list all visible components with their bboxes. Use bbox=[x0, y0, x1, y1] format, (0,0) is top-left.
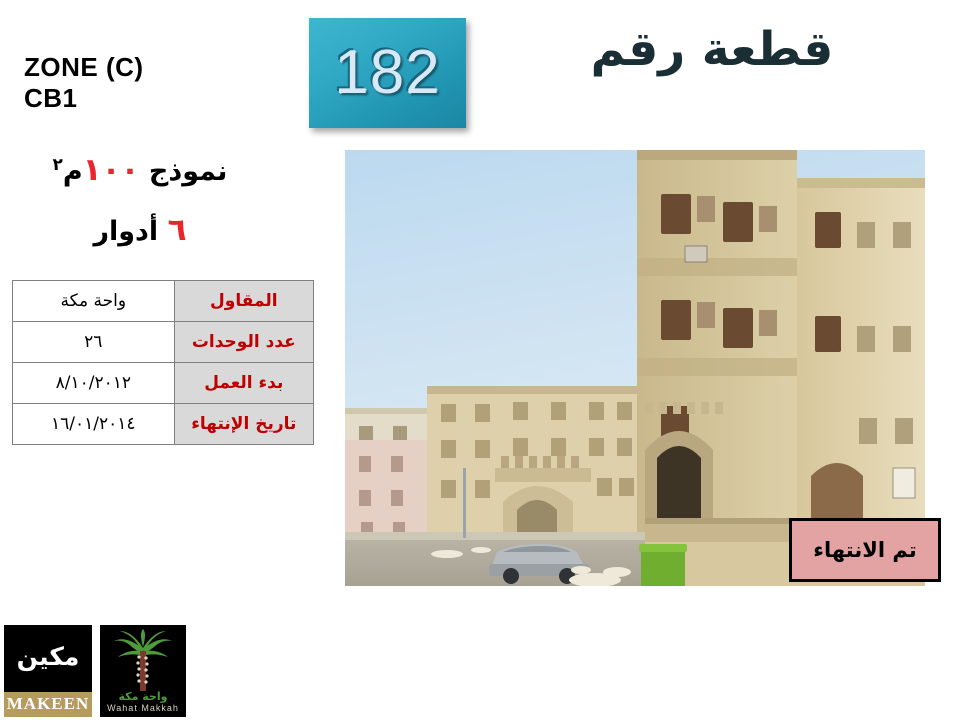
status-badge-label: تم الانتهاء bbox=[813, 538, 916, 562]
status-badge: تم الانتهاء bbox=[789, 518, 941, 582]
row-value-start-date: ٨/١٠/٢٠١٢ bbox=[13, 363, 175, 404]
plot-number-badge: 182 bbox=[309, 18, 466, 128]
table-row: عدد الوحدات ٢٦ bbox=[13, 322, 314, 363]
row-label-units-count: عدد الوحدات bbox=[174, 322, 313, 363]
row-value-units-count: ٢٦ bbox=[13, 322, 175, 363]
wahat-logo-english: Wahat Makkah bbox=[107, 703, 179, 714]
model-unit-exponent: ٢ bbox=[53, 154, 63, 174]
row-label-completion-date: تاريخ الإنتهاء bbox=[174, 404, 313, 445]
row-value-contractor: واحة مكة bbox=[13, 281, 175, 322]
row-value-completion-date: ١٦/٠١/٢٠١٤ bbox=[13, 404, 175, 445]
makeen-logo: مكين MAKEEN bbox=[4, 625, 92, 717]
palm-tree-icon bbox=[108, 629, 178, 691]
floors-count-value: ٦ bbox=[168, 212, 187, 248]
table-row: المقاول واحة مكة bbox=[13, 281, 314, 322]
wahat-logo-arabic: واحة مكة bbox=[119, 691, 168, 703]
table-row: بدء العمل ٨/١٠/٢٠١٢ bbox=[13, 363, 314, 404]
floors-label: أدوار bbox=[93, 216, 158, 247]
makeen-logo-arabic: مكين bbox=[4, 625, 92, 692]
model-area-line: نموذج ١٠٠م٢ bbox=[20, 152, 260, 188]
logo-strip: مكين MAKEEN واحة مكة Wahat M bbox=[4, 625, 186, 717]
plot-number-value: 182 bbox=[334, 42, 440, 104]
model-area-value: ١٠٠ bbox=[83, 152, 140, 188]
table-row: تاريخ الإنتهاء ١٦/٠١/٢٠١٤ bbox=[13, 404, 314, 445]
floors-count-line: ٦ أدوار bbox=[20, 212, 260, 248]
zone-line-1: ZONE (C) bbox=[24, 52, 144, 83]
model-unit-label: م bbox=[63, 156, 83, 187]
row-label-contractor: المقاول bbox=[174, 281, 313, 322]
makeen-logo-english: MAKEEN bbox=[4, 692, 92, 717]
project-info-table: المقاول واحة مكة عدد الوحدات ٢٦ بدء العم… bbox=[12, 280, 314, 445]
page-title: قطعة رقم bbox=[492, 24, 932, 76]
model-prefix-label: نموذج bbox=[149, 156, 227, 187]
zone-line-2: CB1 bbox=[24, 83, 144, 114]
table-body: المقاول واحة مكة عدد الوحدات ٢٦ بدء العم… bbox=[13, 281, 314, 445]
wahat-makkah-logo: واحة مكة Wahat Makkah bbox=[100, 625, 186, 717]
zone-label: ZONE (C) CB1 bbox=[24, 52, 144, 113]
row-label-start-date: بدء العمل bbox=[174, 363, 313, 404]
